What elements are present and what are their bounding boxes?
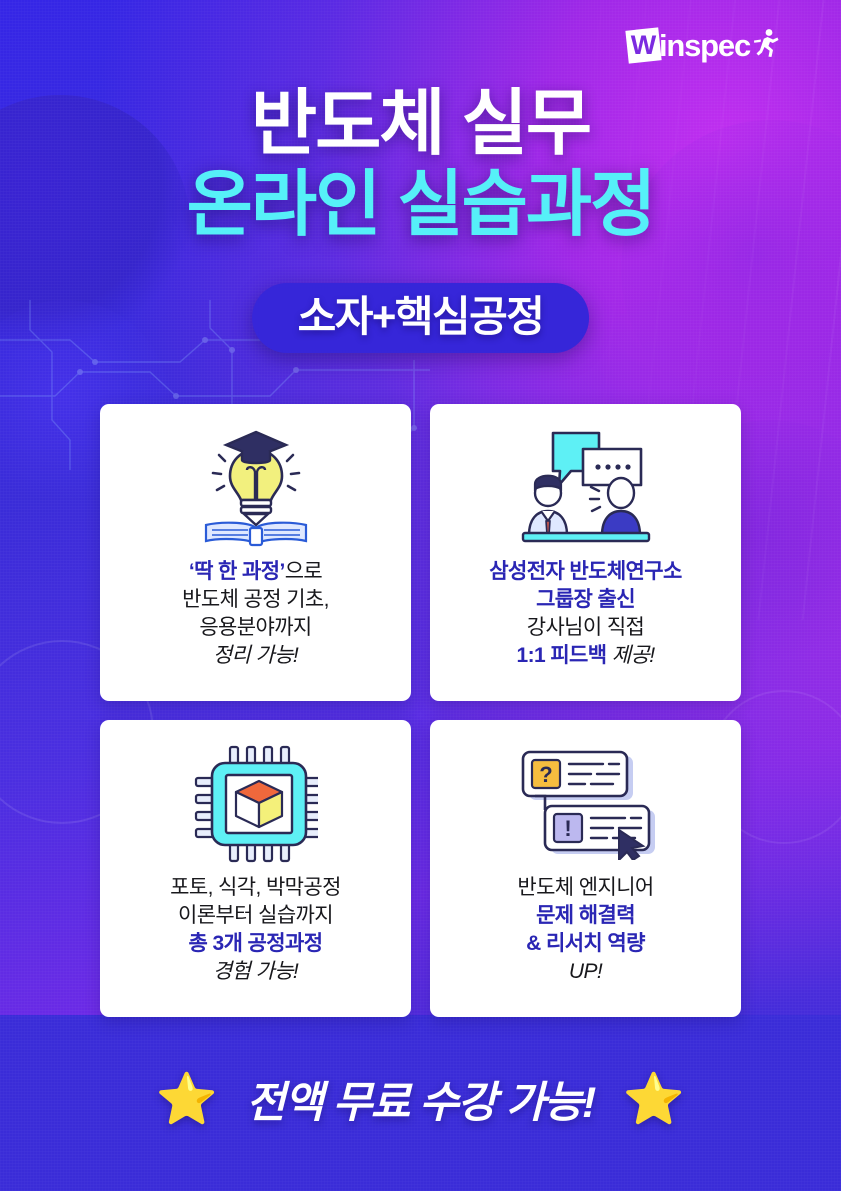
- card-2-line-2: 그룹장 출신: [536, 586, 635, 614]
- badge-label: 소자+핵심공정: [298, 296, 544, 338]
- feature-card-4[interactable]: ? !: [430, 720, 741, 1017]
- microchip-cube-icon: [194, 745, 318, 863]
- footer-banner: ⭐ 전액 무료 수강 가능! ⭐: [0, 1068, 841, 1130]
- headline-line-1: 반도체 실무: [0, 88, 841, 161]
- card-3-icon-wrap: [194, 720, 318, 874]
- star-icon-right: ⭐: [623, 1074, 685, 1124]
- logo-w-mark: W: [625, 27, 661, 63]
- card-1-line-4: 정리 가능!: [213, 642, 298, 670]
- card-4-text: 반도체 엔지니어 문제 해결력 & 리서치 역량 UP!: [505, 874, 665, 1017]
- feature-card-3[interactable]: 포토, 식각, 박막공정 이론부터 실습까지 총 3개 공정과정 경험 가능!: [100, 720, 411, 1017]
- svg-text:!: !: [564, 816, 571, 841]
- card-3-line-1: 포토, 식각, 박막공정: [170, 874, 341, 902]
- brand-logo[interactable]: W inspec: [627, 28, 779, 62]
- card-1-line-3: 응용분야까지: [199, 614, 311, 642]
- card-4-line-3: & 리서치 역량: [526, 930, 645, 958]
- card-3-line-4: 경험 가능!: [213, 958, 298, 986]
- footer-label: 전액 무료 수강 가능!: [246, 1068, 595, 1130]
- star-icon-left: ⭐: [156, 1074, 218, 1124]
- headline-badge: 소자+핵심공정: [252, 283, 590, 353]
- feature-card-2[interactable]: 삼성전자 반도체연구소 그룹장 출신 강사님이 직접 1:1 피드백 제공!: [430, 404, 741, 701]
- instructor-student-speech-bubbles-icon: [515, 429, 657, 547]
- card-4-icon-wrap: ? !: [515, 720, 657, 874]
- card-2-text: 삼성전자 반도체연구소 그룹장 출신 강사님이 직접 1:1 피드백 제공!: [477, 558, 693, 701]
- card-2-line-3: 강사님이 직접: [527, 614, 645, 642]
- graduation-lightbulb-book-icon: [192, 428, 320, 548]
- card-3-line-2: 이론부터 실습까지: [178, 902, 333, 930]
- running-person-icon: [753, 28, 779, 58]
- poster: W inspec 반도체 실무 온라인 실습과정 소자+핵심공정: [0, 0, 841, 1191]
- question-answer-cards-cursor-icon: ? !: [515, 748, 657, 860]
- card-1-icon-wrap: [192, 404, 320, 558]
- headline-block: 반도체 실무 온라인 실습과정: [0, 88, 841, 245]
- card-3-line-3: 총 3개 공정과정: [189, 930, 323, 958]
- svg-text:?: ?: [539, 762, 552, 787]
- card-2-line-4: 1:1 피드백 제공!: [517, 642, 655, 670]
- card-2-icon-wrap: [515, 404, 657, 558]
- card-1-line-2: 반도체 공정 기초,: [182, 586, 329, 614]
- feature-card-1[interactable]: ‘딱 한 과정’으로 반도체 공정 기초, 응용분야까지 정리 가능!: [100, 404, 411, 701]
- card-4-line-2: 문제 해결력: [536, 902, 635, 930]
- logo-initial: W: [627, 29, 660, 62]
- card-3-text: 포토, 식각, 박막공정 이론부터 실습까지 총 3개 공정과정 경험 가능!: [158, 874, 353, 1017]
- logo-wordmark: inspec: [659, 30, 750, 61]
- headline-line-2: 온라인 실습과정: [0, 167, 841, 245]
- card-4-line-1: 반도체 엔지니어: [517, 874, 653, 902]
- feature-card-grid: ‘딱 한 과정’으로 반도체 공정 기초, 응용분야까지 정리 가능!: [100, 404, 741, 1017]
- card-2-line-1: 삼성전자 반도체연구소: [489, 558, 681, 586]
- card-4-line-4: UP!: [569, 958, 602, 986]
- card-1-text: ‘딱 한 과정’으로 반도체 공정 기초, 응용분야까지 정리 가능!: [170, 558, 341, 701]
- card-1-line-1: ‘딱 한 과정’으로: [189, 558, 322, 586]
